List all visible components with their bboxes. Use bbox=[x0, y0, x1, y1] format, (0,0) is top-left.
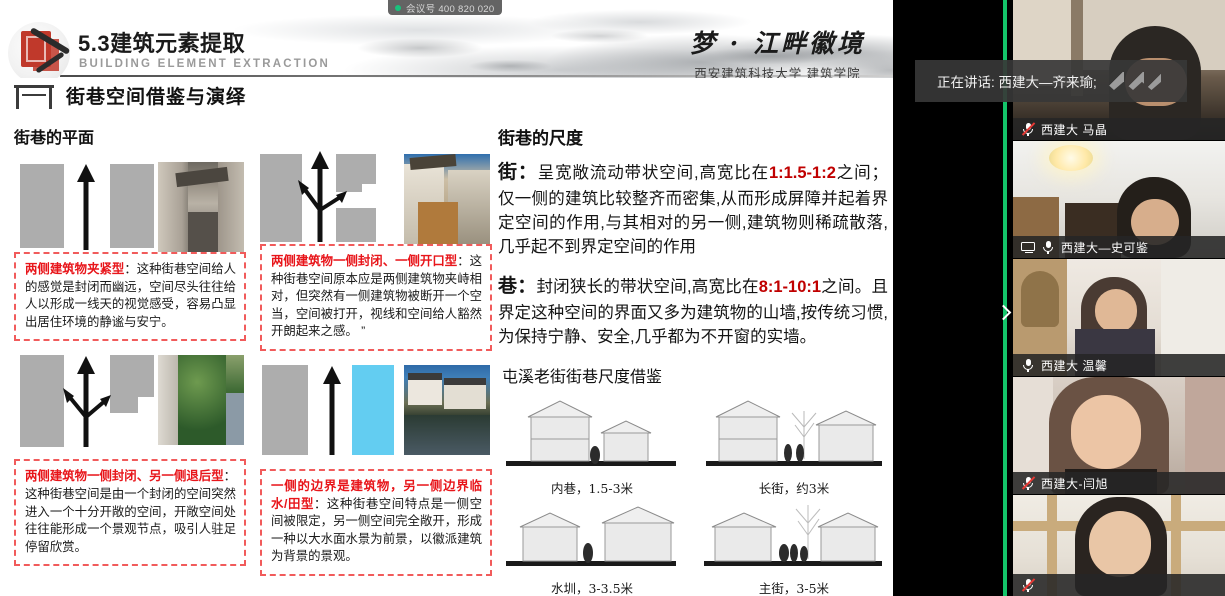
paragraph-street: 街：呈宽敞流动带状空间,高宽比在1:1.5-1:2之间；仅一侧的建筑比较整齐而密… bbox=[498, 159, 888, 259]
plan-diagram-4 bbox=[260, 365, 400, 455]
page-subtitle-en: BUILDING ELEMENT EXTRACTION bbox=[79, 58, 330, 70]
column-plan-right: 两侧建筑物一侧封闭、一侧开口型：这种街巷空间原本应是两侧建筑物夹峙相对，但突然有… bbox=[260, 124, 492, 576]
arrow-up-icon bbox=[312, 365, 352, 457]
photo-alley-3 bbox=[158, 355, 244, 445]
diagram-row-2 bbox=[260, 150, 492, 244]
column-scale: 街巷的尺度 街：呈宽敞流动带状空间,高宽比在1:1.5-1:2之间；仅一侧的建筑… bbox=[498, 124, 888, 596]
section-drawings: 内巷，1.5-3米 bbox=[498, 393, 888, 596]
mic-muted-icon bbox=[1021, 578, 1035, 592]
mic-muted-icon bbox=[1021, 476, 1035, 490]
meeting-id-label: 会议号 400 820 020 bbox=[406, 1, 494, 15]
right-heading: 街巷的尺度 bbox=[498, 124, 888, 149]
section-drawing-2: 长街，约3米 bbox=[700, 393, 888, 497]
arrow-up-icon bbox=[66, 162, 106, 252]
paragraph-street-lead: 街： bbox=[498, 162, 538, 183]
arrow-branch-icon bbox=[60, 355, 112, 449]
arrow-branch-icon bbox=[294, 150, 348, 244]
video-label-2: 西建大—史可鉴 bbox=[1013, 236, 1225, 258]
page-number: 5.3 bbox=[78, 31, 110, 56]
brand-title: 梦 · 江畔徽境 bbox=[690, 24, 865, 60]
diagram-row-1 bbox=[14, 158, 246, 252]
photo-village-water bbox=[404, 365, 490, 455]
mic-on-icon bbox=[1021, 358, 1035, 372]
chevron-right-icon[interactable] bbox=[995, 305, 1013, 323]
section-drawing-row-2: 水圳，3-3.5米 bbox=[498, 503, 888, 596]
video-label-1: 西建大 马晶 bbox=[1013, 118, 1225, 140]
diagram-row-4 bbox=[260, 365, 492, 461]
screen-root: 5.3建筑元素提取 BUILDING ELEMENT EXTRACTION 梦 … bbox=[0, 0, 1225, 596]
street-section-long-street bbox=[700, 393, 888, 471]
street-section-water-channel bbox=[498, 503, 686, 571]
left-heading: 街巷的平面 bbox=[14, 124, 246, 148]
video-tile-4[interactable]: 西建大-闫旭 bbox=[1013, 377, 1225, 494]
section-caption-3: 水圳，3-3.5米 bbox=[498, 578, 686, 596]
paragraph-lane-pre: 封闭狭长的带状空间,高宽比在 bbox=[536, 278, 758, 296]
video-label-5 bbox=[1013, 574, 1225, 596]
brand-block: 梦 · 江畔徽境 西安建筑科技大学 建筑学院 bbox=[690, 24, 865, 78]
section-heading: 街巷空间借鉴与演绎 bbox=[14, 82, 246, 109]
speaking-label: 正在讲话: 西建大—齐来瑜; bbox=[937, 71, 1097, 91]
page-title-cn: 建筑元素提取 bbox=[110, 31, 245, 56]
plan-diagram-3 bbox=[14, 355, 154, 445]
diagram-row-3 bbox=[14, 355, 246, 451]
gate-icon bbox=[14, 83, 54, 109]
street-section-main-street bbox=[700, 503, 888, 571]
note-card-1-bold: 两侧建筑物夹紧型 bbox=[25, 262, 124, 276]
section-drawing-1: 内巷，1.5-3米 bbox=[498, 393, 686, 497]
shared-slide: 5.3建筑元素提取 BUILDING ELEMENT EXTRACTION 梦 … bbox=[0, 0, 893, 596]
note-card-2-bold: 两侧建筑物一侧封闭、一侧开口型 bbox=[271, 254, 457, 268]
participant-name-2: 西建大—史可鉴 bbox=[1061, 239, 1149, 256]
photo-alley-1 bbox=[158, 162, 244, 252]
note-card-2: 两侧建筑物一侧封闭、一侧开口型：这种街巷空间原本应是两侧建筑物夹峙相对，但突然有… bbox=[260, 244, 492, 351]
column-plan-left: 街巷的平面 两侧建筑物夹紧型：这种街巷 bbox=[14, 124, 246, 566]
screen-share-icon bbox=[1021, 240, 1035, 254]
page-title: 5.3建筑元素提取 bbox=[78, 26, 245, 58]
video-tile-5[interactable] bbox=[1013, 495, 1225, 596]
section-caption-1: 内巷，1.5-3米 bbox=[498, 478, 686, 497]
section-caption-2: 长街，约3米 bbox=[700, 478, 888, 497]
participant-name-4: 西建大-闫旭 bbox=[1041, 475, 1108, 492]
paragraph-street-ratio: 1:1.5-1:2 bbox=[769, 164, 836, 182]
video-label-4: 西建大-闫旭 bbox=[1013, 472, 1225, 494]
note-card-3: 两侧建筑物一侧封闭、另一侧退后型：这种街巷空间是由一个封闭的空间突然进入一个十分… bbox=[14, 459, 246, 566]
section-caption-4: 主街，3-5米 bbox=[700, 578, 888, 596]
video-tile-2[interactable]: 西建大—史可鉴 bbox=[1013, 141, 1225, 258]
photo-alley-2 bbox=[404, 154, 490, 244]
video-label-3: 西建大 温馨 bbox=[1013, 354, 1225, 376]
plan-diagram-2 bbox=[260, 150, 400, 240]
mic-on-icon bbox=[1041, 240, 1055, 254]
participant-name-3: 西建大 温馨 bbox=[1041, 357, 1107, 374]
paragraph-lane-ratio: 8:1-10:1 bbox=[759, 278, 821, 296]
audio-wave-icon bbox=[1105, 72, 1161, 90]
speaking-indicator: 正在讲话: 西建大—齐来瑜; bbox=[915, 60, 1187, 102]
section-title: 街巷空间借鉴与演绎 bbox=[66, 82, 246, 109]
note-card-4: 一侧的边界是建筑物，另一侧边界临水/田型：这种街巷空间特点是一侧空间被限定，另一… bbox=[260, 469, 492, 576]
note-card-3-bold: 两侧建筑物一侧封闭、另一侧退后型 bbox=[25, 469, 224, 483]
participant-name-1: 西建大 马晶 bbox=[1041, 121, 1107, 138]
paragraph-lane-lead: 巷： bbox=[498, 276, 536, 297]
paragraph-lane: 巷：封闭狭长的带状空间,高宽比在8:1-10:1之间。且界定这种空间的界面又多为… bbox=[498, 273, 888, 349]
mic-muted-icon bbox=[1021, 122, 1035, 136]
plan-diagram-1 bbox=[14, 158, 154, 248]
section-drawing-3: 水圳，3-3.5米 bbox=[498, 503, 686, 596]
brand-school: 西安建筑科技大学 建筑学院 bbox=[690, 63, 865, 78]
meeting-id-badge[interactable]: 会议号 400 820 020 bbox=[388, 0, 502, 15]
water-block bbox=[352, 365, 394, 455]
status-dot-icon bbox=[395, 5, 401, 11]
section-drawing-row-1: 内巷，1.5-3米 bbox=[498, 393, 888, 497]
note-card-1: 两侧建筑物夹紧型：这种街巷空间给人的感觉是封闭而幽远，空间尽头往往给人以形成一线… bbox=[14, 252, 246, 341]
street-section-inner-lane bbox=[498, 393, 686, 471]
scale-reference-title: 屯溪老街街巷尺度借鉴 bbox=[502, 363, 888, 387]
paragraph-street-pre: 呈宽敞流动带状空间,高宽比在 bbox=[538, 164, 769, 182]
project-seal-logo bbox=[8, 22, 70, 78]
video-tile-3[interactable]: 西建大 温馨 bbox=[1013, 259, 1225, 376]
section-drawing-4: 主街，3-5米 bbox=[700, 503, 888, 596]
